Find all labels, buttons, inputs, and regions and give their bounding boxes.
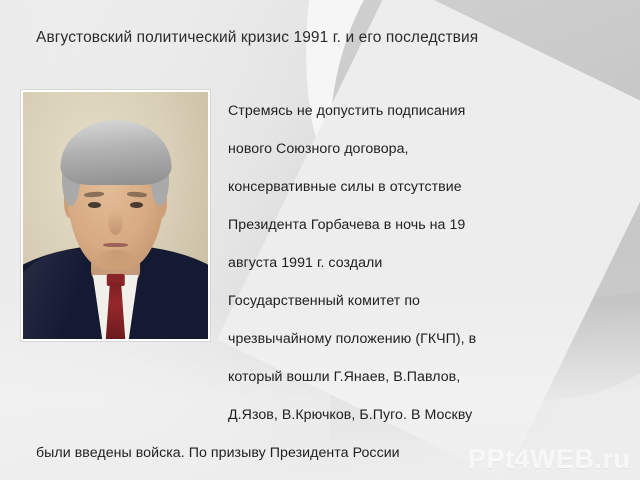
- body-text-line: Стремясь не допустить подписания: [0, 92, 640, 130]
- watermark: PPt4WEB.ru: [468, 444, 631, 475]
- body-text-line: чрезвычайному положению (ГКЧП), в: [0, 320, 640, 358]
- body-text-line: который вошли Г.Янаев, В.Павлов,: [0, 358, 640, 396]
- body-text-line: Президента Горбачева в ночь на 19: [0, 206, 640, 244]
- slide-body-text: Стремясь не допустить подписаниянового С…: [0, 92, 640, 480]
- body-text-line: Д.Язов, В.Крючков, Б.Пуго. В Москву: [0, 396, 640, 434]
- presentation-slide: Августовский политический кризис 1991 г.…: [0, 0, 640, 480]
- body-text-line: августа 1991 г. создали: [0, 244, 640, 282]
- slide-title: Августовский политический кризис 1991 г.…: [36, 27, 536, 49]
- body-text-line: Государственный комитет по: [0, 282, 640, 320]
- body-text-line: консервативные силы в отсутствие: [0, 168, 640, 206]
- body-text-line: нового Союзного договора,: [0, 130, 640, 168]
